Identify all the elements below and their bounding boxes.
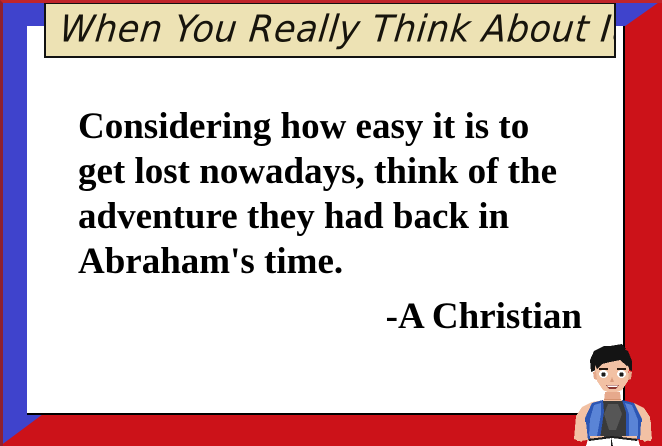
quote-line: get lost nowadays, think of the	[78, 149, 590, 194]
quote-line: adventure they had back in	[78, 194, 590, 239]
quote-line: Abraham's time.	[78, 239, 590, 284]
title-banner: When You Really Think About It	[44, 2, 616, 58]
quote-text-block: Considering how easy it is to get lost n…	[78, 104, 590, 284]
quote-line: Considering how easy it is to	[78, 104, 590, 149]
cartoon-man-with-book-illustration	[564, 344, 662, 446]
quote-attribution: -A Christian	[78, 294, 582, 339]
quote-poster: When You Really Think About It Consideri…	[0, 0, 662, 446]
banner-title-text: When You Really Think About It	[44, 9, 616, 51]
